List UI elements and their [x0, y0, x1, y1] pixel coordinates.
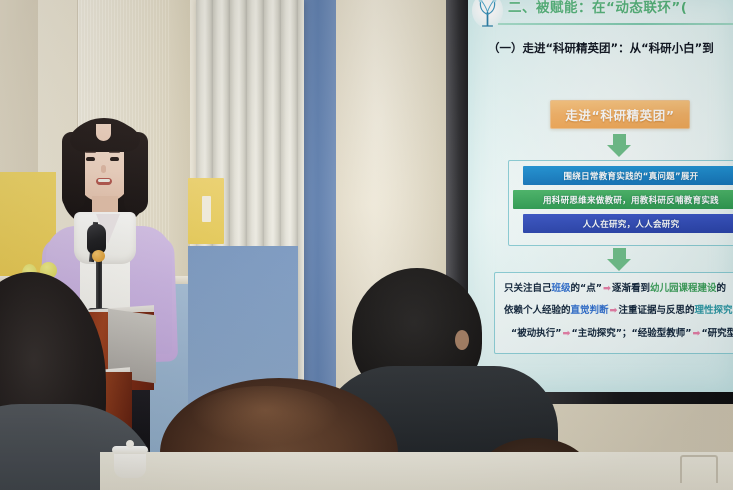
chair-back-frame — [680, 455, 718, 483]
slide-transition-text: 依赖个人经验的 — [504, 305, 571, 316]
slide-transition-text: “被动执行” — [511, 328, 562, 339]
speaker-eye-right — [110, 157, 119, 161]
speaker-eye-left — [86, 157, 95, 161]
speaker-eyebrow-left — [85, 151, 96, 153]
arrow-down-head-icon — [607, 145, 631, 157]
slide-transition-text: 幼儿园课程建设 — [650, 283, 717, 294]
arrow-right-icon: ➡ — [609, 305, 619, 316]
slide-headline-text: 走进“科研精英团” — [565, 105, 674, 124]
wall-pillar-blue — [300, 0, 336, 402]
arrow-right-icon: ➡ — [562, 328, 572, 339]
slide-bar: 用科研思维来做教研，用教科研反哺教育实践 — [513, 190, 733, 209]
slide-transition-row: 只关注自己班级的“点”➡逐渐看到幼儿园课程建设的 — [504, 280, 726, 294]
slide-transition-text: 直觉判断 — [571, 305, 609, 316]
slide-transition-text: “经验型教师” — [631, 328, 691, 339]
speaker-mouth — [96, 178, 112, 185]
speaker-eyebrow-right — [109, 151, 120, 153]
arrow-right-icon: ➡ — [691, 328, 701, 339]
slide-transition-text: 理性探究 — [695, 305, 733, 316]
slide-transition-text: “研究型 — [701, 328, 733, 339]
slide-header: 二、被赋能：在“动态联环”( — [468, 0, 733, 27]
slide-header-divider — [498, 23, 733, 25]
slide-section-title: 二、被赋能：在“动态联环”( — [508, 0, 687, 16]
slide-headline-box: 走进“科研精英团” — [550, 100, 690, 129]
slide-bar-label: 围绕日常教育实践的“真问题”展开 — [564, 170, 699, 182]
speaker-nose — [101, 165, 106, 173]
slide-bar-label: 人人在研究，人人会研究 — [583, 218, 680, 230]
slide-transition-text: 的 — [717, 283, 727, 294]
light-switch-icon — [202, 196, 211, 222]
slide-transition-row: 依赖个人经验的直觉判断➡注重证据与反思的理性探究 — [504, 302, 733, 316]
slide-bars-panel: 围绕日常教育实践的“真问题”展开 用科研思维来做教研，用教科研反哺教育实践 人人… — [508, 160, 733, 246]
slide-transition-text: 注重证据与反思的 — [619, 305, 695, 316]
arrow-down-head-icon — [607, 259, 631, 271]
audience-member-man-ear — [455, 330, 469, 350]
wall-accent-yellow-switch — [188, 178, 224, 244]
slide-transition-row: “被动执行”➡“主动探究”；“经验型教师”➡“研究型 — [511, 325, 733, 339]
presentation-slide: 二、被赋能：在“动态联环”( （一）走进“科研精英团”：从“科研小白”到 走进“… — [468, 0, 733, 392]
slide-transition-text: 班级 — [552, 283, 571, 294]
slide-bar: 围绕日常教育实践的“真问题”展开 — [523, 166, 733, 185]
slide-transition-text: 只关注自己 — [504, 283, 552, 294]
slide-subtitle: （一）走进“科研精英团”：从“科研小白”到 — [488, 40, 714, 56]
slide-bar: 人人在研究，人人会研究 — [523, 214, 733, 233]
speaker-forehead — [96, 124, 111, 141]
slide-transition-text: “主动探究”； — [571, 328, 631, 339]
photo-scene: 二、被赋能：在“动态联环”( （一）走进“科研精英团”：从“科研小白”到 走进“… — [0, 0, 733, 490]
slide-bar-label: 用科研思维来做教研，用教科研反哺教育实践 — [543, 194, 719, 206]
arrow-right-icon: ➡ — [602, 283, 612, 294]
tea-cup-knob — [126, 440, 134, 448]
slide-transition-text: 逐渐看到 — [612, 283, 650, 294]
slide-transition-text: 的“点” — [571, 283, 603, 294]
audience-member-center-hair-highlight — [190, 386, 340, 446]
slide-transition-panel: 只关注自己班级的“点”➡逐渐看到幼儿园课程建设的 依赖个人经验的直觉判断➡注重证… — [494, 272, 733, 354]
front-table — [100, 452, 733, 490]
